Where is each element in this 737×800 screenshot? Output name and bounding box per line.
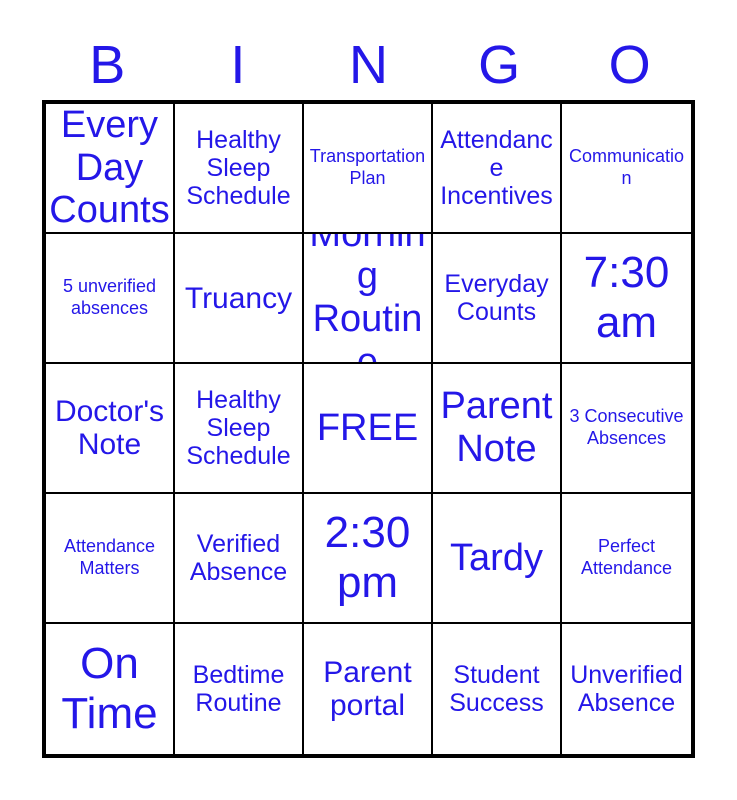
- bingo-cell[interactable]: Transportation Plan: [304, 104, 433, 234]
- bingo-cell-label: Everyday Counts: [436, 270, 557, 326]
- bingo-cell[interactable]: Truancy: [175, 234, 304, 364]
- bingo-cell[interactable]: Healthy Sleep Schedule: [175, 104, 304, 234]
- bingo-cell-label: Tardy: [436, 537, 557, 580]
- bingo-header-letters: BINGO: [42, 34, 695, 96]
- bingo-cell[interactable]: 3 Consecutive Absences: [562, 364, 691, 494]
- bingo-cell-free[interactable]: FREE: [304, 364, 433, 494]
- bingo-header-letter-b: B: [42, 34, 173, 96]
- bingo-cell[interactable]: Parent Note: [433, 364, 562, 494]
- bingo-cell-label: 7:30 am: [565, 248, 688, 348]
- bingo-cell-label: Doctor's Note: [49, 395, 170, 461]
- bingo-cell-label: Morning Routine: [307, 234, 428, 364]
- bingo-cell-label: Parent portal: [307, 656, 428, 722]
- bingo-cell[interactable]: Morning Routine: [304, 234, 433, 364]
- bingo-cell-label: Student Success: [436, 661, 557, 717]
- bingo-cell-label: Healthy Sleep Schedule: [178, 126, 299, 210]
- bingo-card: BINGO Every Day CountsHealthy Sleep Sche…: [0, 0, 737, 800]
- bingo-cell-label: 2:30 pm: [307, 508, 428, 608]
- bingo-grid: Every Day CountsHealthy Sleep ScheduleTr…: [42, 100, 695, 758]
- bingo-cell[interactable]: On Time: [46, 624, 175, 754]
- bingo-cell-label: 5 unverified absences: [49, 276, 170, 319]
- bingo-cell-label: Truancy: [178, 282, 299, 315]
- bingo-cell-label: Communication: [565, 146, 688, 189]
- bingo-cell[interactable]: Verified Absence: [175, 494, 304, 624]
- bingo-cell-label: On Time: [49, 639, 170, 739]
- bingo-cell[interactable]: 2:30 pm: [304, 494, 433, 624]
- bingo-cell[interactable]: Parent portal: [304, 624, 433, 754]
- bingo-cell-label: Unverified Absence: [565, 661, 688, 717]
- bingo-cell-label: FREE: [307, 407, 428, 450]
- bingo-cell-label: Attendance Incentives: [436, 126, 557, 210]
- bingo-header-letter-i: I: [173, 34, 304, 96]
- bingo-cell[interactable]: Tardy: [433, 494, 562, 624]
- bingo-cell[interactable]: Communication: [562, 104, 691, 234]
- bingo-cell-label: Every Day Counts: [49, 104, 170, 232]
- bingo-cell[interactable]: Attendance Incentives: [433, 104, 562, 234]
- bingo-cell[interactable]: Perfect Attendance: [562, 494, 691, 624]
- bingo-cell-label: Verified Absence: [178, 530, 299, 586]
- bingo-cell[interactable]: Doctor's Note: [46, 364, 175, 494]
- bingo-cell-label: Parent Note: [436, 385, 557, 470]
- bingo-cell[interactable]: Every Day Counts: [46, 104, 175, 234]
- bingo-header-letter-n: N: [303, 34, 434, 96]
- bingo-cell[interactable]: Unverified Absence: [562, 624, 691, 754]
- bingo-header-letter-g: G: [434, 34, 565, 96]
- bingo-cell-label: 3 Consecutive Absences: [565, 406, 688, 449]
- bingo-cell-label: Attendance Matters: [49, 536, 170, 579]
- bingo-cell-label: Perfect Attendance: [565, 536, 688, 579]
- bingo-header-letter-o: O: [564, 34, 695, 96]
- bingo-cell[interactable]: 7:30 am: [562, 234, 691, 364]
- bingo-cell[interactable]: Attendance Matters: [46, 494, 175, 624]
- bingo-cell[interactable]: Everyday Counts: [433, 234, 562, 364]
- bingo-cell[interactable]: Bedtime Routine: [175, 624, 304, 754]
- bingo-cell[interactable]: Student Success: [433, 624, 562, 754]
- bingo-cell-label: Bedtime Routine: [178, 661, 299, 717]
- bingo-cell[interactable]: Healthy Sleep Schedule: [175, 364, 304, 494]
- bingo-cell-label: Transportation Plan: [307, 146, 428, 189]
- bingo-cell-label: Healthy Sleep Schedule: [178, 386, 299, 470]
- bingo-cell[interactable]: 5 unverified absences: [46, 234, 175, 364]
